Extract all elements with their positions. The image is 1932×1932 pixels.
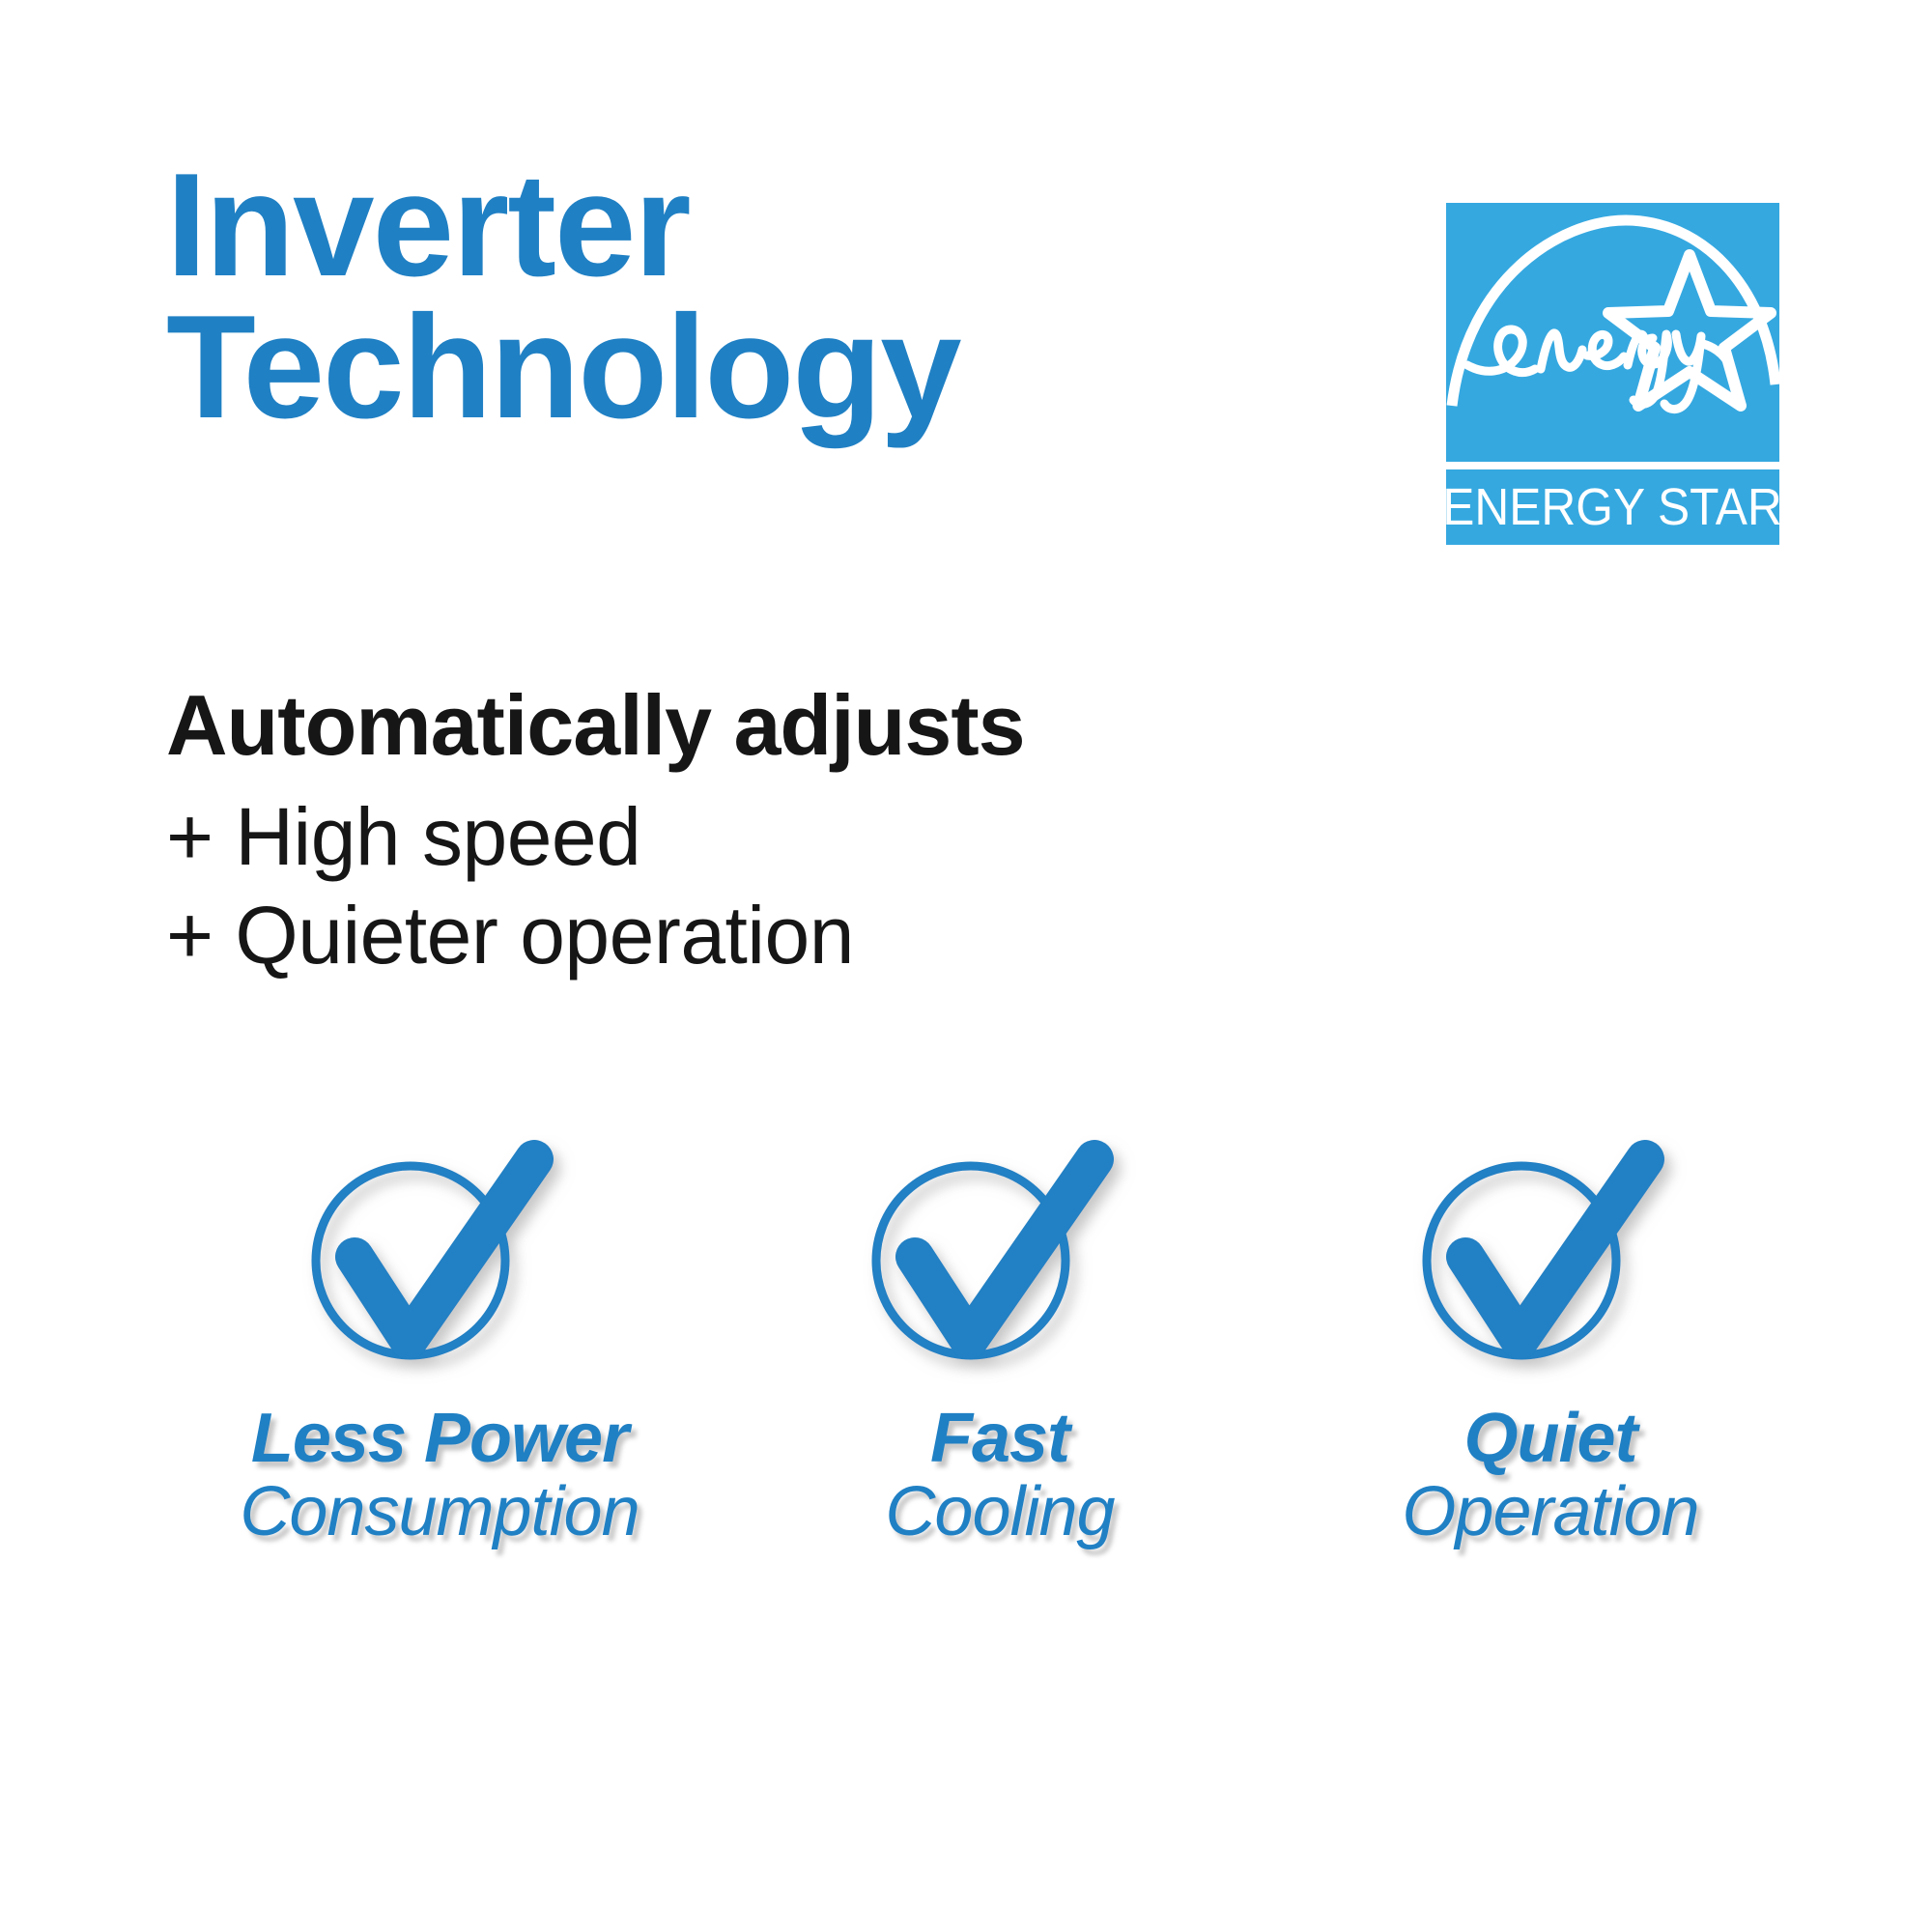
feature-less-power: Less Power Consumption [169, 1135, 710, 1548]
feature-icon-wrap [169, 1135, 710, 1391]
feature-icon-wrap [729, 1135, 1270, 1391]
energy-star-label: ENERGY STAR [1443, 477, 1783, 537]
feature-caption: Fast Cooling [729, 1403, 1270, 1548]
energy-star-badge-square [1446, 203, 1779, 462]
feature-fast-cooling: Fast Cooling [729, 1135, 1270, 1548]
inverter-technology-infographic: Inverter Technology [0, 0, 1932, 1932]
energy-star-label-bar: ENERGY STAR [1446, 469, 1779, 545]
benefit-list: + High speed + Quieter operation [166, 787, 854, 985]
feature-title: Fast [729, 1403, 1270, 1476]
checkmark-circle-icon [1406, 1135, 1695, 1391]
feature-subtitle: Operation [1280, 1476, 1821, 1549]
feature-title: Less Power [169, 1403, 710, 1476]
feature-title: Quiet [1280, 1403, 1821, 1476]
feature-caption: Less Power Consumption [169, 1403, 710, 1548]
page-title-line-2: Technology [166, 297, 1374, 439]
page-title-line-1: Inverter [166, 155, 1374, 297]
checkmark-circle-icon [855, 1135, 1145, 1391]
feature-caption: Quiet Operation [1280, 1403, 1821, 1548]
feature-icon-wrap [1280, 1135, 1821, 1391]
feature-quiet-operation: Quiet Operation [1280, 1135, 1821, 1548]
energy-star-mark-icon [1446, 203, 1779, 462]
feature-subtitle: Cooling [729, 1476, 1270, 1549]
checkmark-circle-icon [295, 1135, 584, 1391]
subheading: Automatically adjusts [166, 676, 1025, 775]
benefit-item-1: + High speed [166, 787, 854, 886]
benefit-item-2: + Quieter operation [166, 886, 854, 984]
energy-star-logo: ENERGY STAR [1446, 203, 1779, 545]
page-title: Inverter Technology [166, 155, 1374, 440]
feature-subtitle: Consumption [169, 1476, 710, 1549]
